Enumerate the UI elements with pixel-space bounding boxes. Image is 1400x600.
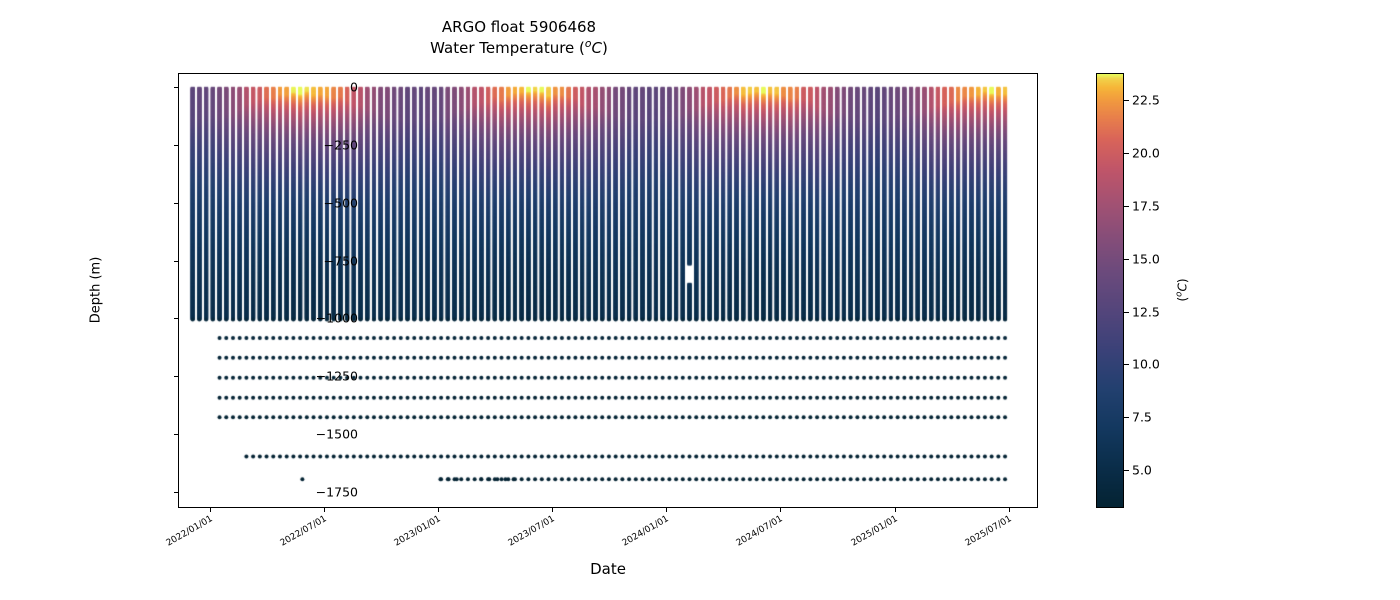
colorbar-tick-mark: [1124, 259, 1129, 260]
colorbar-tick-label: 7.5: [1132, 410, 1152, 425]
x-tick-label: 2023/07/01: [507, 515, 555, 549]
colorbar: [1096, 73, 1124, 508]
colorbar-tick-label: 22.5: [1132, 93, 1160, 108]
colorbar-degree-sup: o: [1175, 292, 1185, 297]
argo-temperature-figure: ARGO float 5906468 Water Temperature (oC…: [0, 0, 1400, 600]
y-tick-label: −750: [324, 253, 358, 268]
x-tick-label: 2023/01/01: [393, 515, 441, 549]
x-tick-mark: [210, 508, 211, 512]
colorbar-tick-mark: [1124, 100, 1129, 101]
x-tick-label: 2022/07/01: [279, 515, 327, 549]
plot-axes: [178, 73, 1038, 508]
colorbar-paren-open: (: [1176, 297, 1190, 302]
y-tick-mark: [174, 434, 178, 435]
y-tick-mark: [174, 318, 178, 319]
y-tick-label: −250: [324, 137, 358, 152]
colorbar-tick-label: 20.0: [1132, 146, 1160, 161]
title-line-variable: Water Temperature (oC): [0, 37, 1038, 58]
colorbar-tick-label: 15.0: [1132, 251, 1160, 266]
y-tick-mark: [174, 261, 178, 262]
y-tick-mark: [174, 145, 178, 146]
y-tick-mark: [174, 87, 178, 88]
y-tick-label: −1500: [316, 427, 358, 442]
colorbar-tick-label: 12.5: [1132, 304, 1160, 319]
temperature-profile-canvas: [179, 74, 1037, 507]
colorbar-tick-mark: [1124, 364, 1129, 365]
y-tick-label: −1750: [316, 485, 358, 500]
y-axis-label: Depth (m): [89, 257, 104, 324]
x-tick-mark: [1009, 508, 1010, 512]
colorbar-tick-mark: [1124, 470, 1129, 471]
x-axis-label: Date: [590, 560, 626, 578]
colorbar-tick-mark: [1124, 153, 1129, 154]
y-tick-label: −1250: [316, 369, 358, 384]
y-tick-label: 0: [350, 79, 358, 94]
figure-title: ARGO float 5906468 Water Temperature (oC…: [0, 18, 1038, 58]
x-tick-mark: [324, 508, 325, 512]
colorbar-tick-mark: [1124, 206, 1129, 207]
colorbar-tick-mark: [1124, 417, 1129, 418]
y-tick-label: −1000: [316, 311, 358, 326]
x-tick-label: 2024/07/01: [735, 515, 783, 549]
title-degree-sup: o: [585, 37, 592, 50]
colorbar-gradient: [1097, 74, 1123, 507]
colorbar-tick-label: 17.5: [1132, 199, 1160, 214]
x-tick-mark: [780, 508, 781, 512]
title-variable-text: Water Temperature (: [430, 39, 585, 57]
colorbar-label: (oC): [1175, 278, 1190, 301]
y-tick-mark: [174, 492, 178, 493]
y-tick-label: −500: [324, 195, 358, 210]
x-tick-label: 2025/07/01: [963, 515, 1011, 549]
colorbar-paren-close: ): [1176, 278, 1190, 283]
colorbar-tick-mark: [1124, 312, 1129, 313]
y-tick-mark: [174, 376, 178, 377]
x-tick-label: 2024/01/01: [621, 515, 669, 549]
title-line-float-id: ARGO float 5906468: [0, 18, 1038, 37]
colorbar-tick-label: 5.0: [1132, 462, 1152, 477]
x-tick-mark: [438, 508, 439, 512]
title-paren-close: ): [602, 39, 608, 57]
x-tick-mark: [895, 508, 896, 512]
x-tick-mark: [552, 508, 553, 512]
x-tick-mark: [666, 508, 667, 512]
x-tick-label: 2025/01/01: [849, 515, 897, 549]
y-tick-mark: [174, 203, 178, 204]
title-unit-c: C: [592, 39, 602, 57]
colorbar-unit-c: C: [1176, 283, 1190, 291]
colorbar-tick-label: 10.0: [1132, 357, 1160, 372]
x-tick-label: 2022/01/01: [165, 515, 213, 549]
